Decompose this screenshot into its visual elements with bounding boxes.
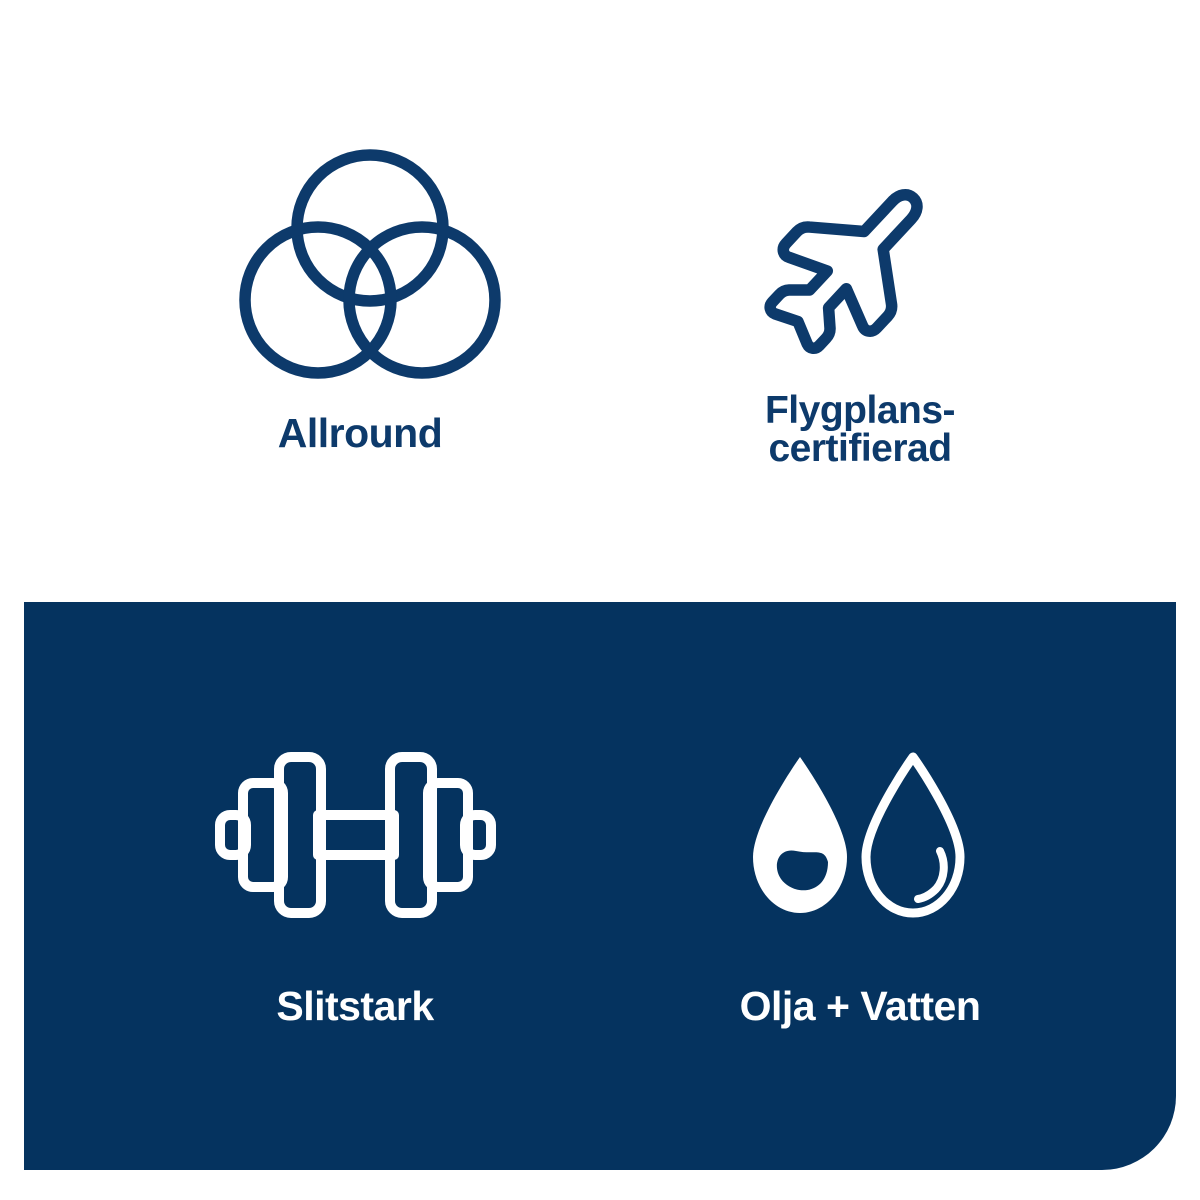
feature-label-allround: Allround [278,410,443,456]
feature-card-allround: Allround [200,150,520,456]
airplane-icon [760,150,960,370]
feature-card-flygplans-certifierad: Flygplans- certifierad [700,150,1020,468]
water-droplets-icon [750,745,970,925]
feature-card-slitstark: Slitstark [195,745,515,1029]
feature-icon-grid: Allround Flygplans- certifierad [0,0,1200,1200]
feature-label-flygplans-certifierad: Flygplans- certifierad [765,392,955,468]
feature-card-olja-vatten: Olja + Vatten [700,745,1020,1029]
three-overlapping-circles-icon [240,150,480,370]
feature-label-slitstark: Slitstark [276,983,433,1029]
feature-label-olja-vatten: Olja + Vatten [740,983,981,1029]
dumbbell-icon [215,745,495,925]
